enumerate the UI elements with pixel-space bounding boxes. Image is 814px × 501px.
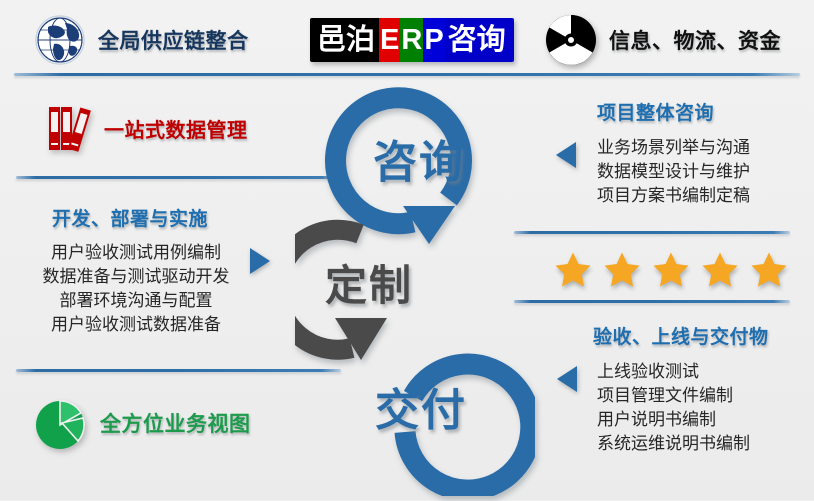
list-item: 数据模型设计与维护 bbox=[597, 160, 750, 184]
dev-section-title: 开发、部署与实施 bbox=[52, 204, 208, 231]
cycle-step-label-consult: 咨询 bbox=[373, 126, 465, 190]
process-cycle-diagram: 咨询 定制 交付 bbox=[295, 78, 535, 496]
logo-segment-e: E bbox=[379, 18, 400, 62]
star-icon bbox=[699, 249, 741, 291]
triangle-right-icon bbox=[250, 248, 270, 274]
header-left-item: 全局供应链整合 bbox=[34, 14, 249, 66]
delivery-section-list: 上线验收测试 项目管理文件编制 用户说明书编制 系统运维说明书编制 bbox=[597, 360, 750, 457]
business-view-label: 全方位业务视图 bbox=[100, 408, 251, 438]
data-management-label: 一站式数据管理 bbox=[104, 114, 248, 143]
list-item: 系统运维说明书编制 bbox=[597, 432, 750, 456]
cycle-step-label-custom: 定制 bbox=[325, 252, 413, 313]
green-pie-icon bbox=[34, 396, 88, 450]
list-item: 业务场景列举与沟通 bbox=[597, 136, 750, 160]
infographic-canvas: 全局供应链整合 邑泊 E R P 咨询 信息、物流、资金 bbox=[0, 0, 814, 500]
right-divider-top bbox=[514, 231, 790, 234]
dev-section-list: 用户验收测试用例编制 数据准备与测试驱动开发 部署环境沟通与配置 用户验收测试数… bbox=[28, 241, 244, 338]
data-management-item: 一站式数据管理 bbox=[46, 102, 248, 154]
left-divider-top bbox=[16, 176, 341, 179]
list-item: 项目管理文件编制 bbox=[597, 384, 750, 408]
list-item: 用户验收测试用例编制 bbox=[28, 241, 244, 265]
logo-segment-brand: 邑泊 bbox=[310, 18, 379, 62]
list-item: 部署环境沟通与配置 bbox=[28, 289, 244, 313]
logo-segment-r: R bbox=[400, 18, 423, 62]
right-divider-bottom bbox=[514, 300, 790, 303]
header-right-item: 信息、物流、资金 bbox=[545, 14, 781, 66]
star-icon bbox=[601, 249, 643, 291]
list-item: 项目方案书编制定稿 bbox=[597, 184, 750, 208]
logo-segment-suffix: 咨询 bbox=[445, 18, 514, 62]
header-left-label: 全局供应链整合 bbox=[98, 25, 249, 55]
list-item: 用户验收测试数据准备 bbox=[28, 313, 244, 337]
star-icon bbox=[748, 249, 790, 291]
star-icon bbox=[650, 249, 692, 291]
logo-segment-p: P bbox=[423, 18, 444, 62]
red-books-icon bbox=[46, 102, 92, 154]
delivery-section-title: 验收、上线与交付物 bbox=[593, 322, 769, 349]
star-icon bbox=[552, 249, 594, 291]
brand-logo: 邑泊 E R P 咨询 bbox=[310, 18, 514, 62]
triangle-left-icon-delivery bbox=[557, 366, 577, 392]
left-divider-bottom bbox=[16, 369, 341, 372]
triangle-left-icon-consulting bbox=[556, 142, 576, 168]
star-rating bbox=[552, 249, 790, 291]
list-item: 数据准备与测试驱动开发 bbox=[28, 265, 244, 289]
consulting-section-title: 项目整体咨询 bbox=[597, 98, 714, 125]
list-item: 上线验收测试 bbox=[597, 360, 750, 384]
business-view-item: 全方位业务视图 bbox=[34, 396, 251, 450]
radiation-icon bbox=[545, 14, 597, 66]
header-right-label: 信息、物流、资金 bbox=[609, 25, 781, 55]
header-divider bbox=[14, 73, 800, 76]
cycle-step-label-deliver: 交付 bbox=[375, 374, 467, 438]
list-item: 用户说明书编制 bbox=[597, 408, 750, 432]
globe-icon bbox=[34, 14, 86, 66]
consulting-section-list: 业务场景列举与沟通 数据模型设计与维护 项目方案书编制定稿 bbox=[597, 136, 750, 208]
